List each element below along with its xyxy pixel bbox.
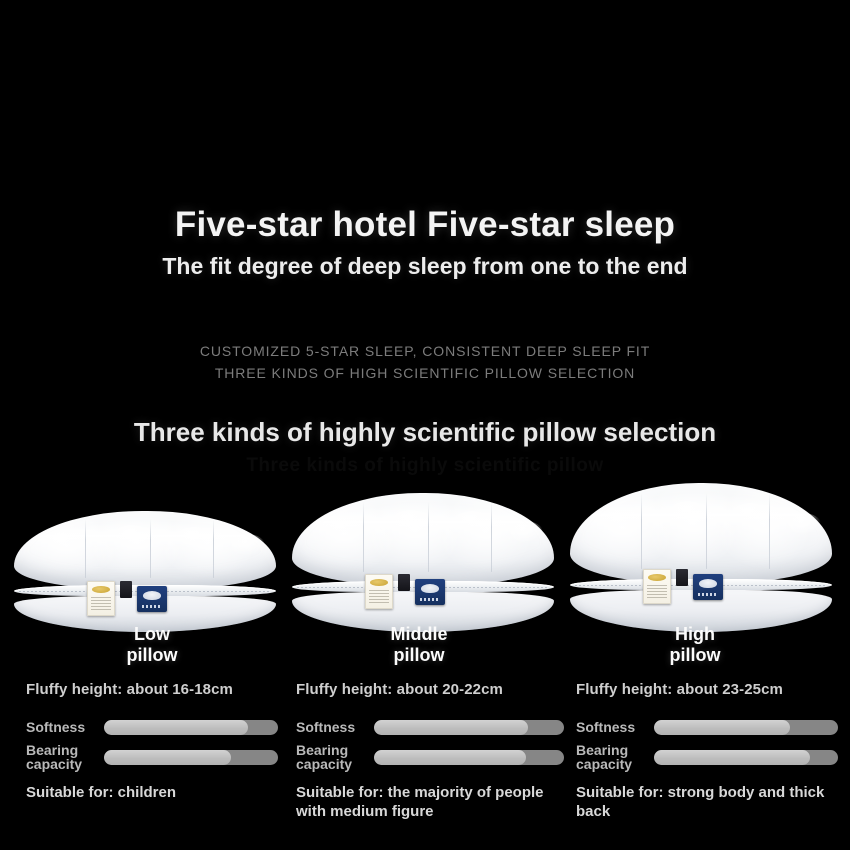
pillow-hang-tags bbox=[643, 569, 723, 604]
meter-row-bearing: Bearing capacity bbox=[296, 742, 564, 772]
meter-label-softness: Softness bbox=[576, 720, 654, 735]
meter-track-bearing bbox=[104, 750, 278, 765]
spec-title-line1: High bbox=[576, 624, 814, 645]
puff-highlight bbox=[601, 509, 637, 531]
quilt-seam-icon bbox=[428, 502, 429, 572]
meter-label-bearing-line2: capacity bbox=[576, 757, 654, 772]
pillow-graphic bbox=[14, 511, 276, 632]
pillow-top-loft bbox=[570, 483, 832, 583]
puff-highlight bbox=[229, 534, 265, 556]
puff-highlight bbox=[176, 527, 212, 549]
quilt-seam-icon bbox=[641, 493, 642, 569]
meter-label-softness: Softness bbox=[26, 720, 104, 735]
pillow-image-row bbox=[0, 492, 850, 632]
meter-track-bearing bbox=[654, 750, 838, 765]
navy-brand-tag-icon bbox=[137, 586, 167, 612]
page-title: Five-star hotel Five-star sleep bbox=[0, 205, 850, 245]
pillow-image-middle bbox=[292, 493, 554, 632]
meter-fill-bearing bbox=[104, 750, 231, 765]
dark-tag-icon bbox=[398, 574, 410, 591]
puff-highlight bbox=[114, 525, 150, 547]
suitable-for-high: Suitable for: strong body and thick back bbox=[576, 784, 838, 822]
suitable-for-low: Suitable for: children bbox=[26, 784, 278, 803]
meter-label-bearing: Bearing capacity bbox=[576, 743, 654, 772]
suitable-for-middle: Suitable for: the majority of people wit… bbox=[296, 784, 564, 822]
puff-highlight bbox=[323, 517, 359, 539]
spec-title-line1: Middle bbox=[296, 624, 542, 645]
meter-fill-bearing bbox=[374, 750, 526, 765]
dark-tag-icon bbox=[676, 569, 688, 586]
spec-title-line2: pillow bbox=[36, 645, 268, 666]
pillow-graphic bbox=[292, 493, 554, 632]
section-heading-ghost-text: Three kinds of highly scientific pillow bbox=[0, 455, 850, 477]
dark-tag-icon bbox=[120, 581, 132, 598]
fluffy-height-low: Fluffy height: about 16-18cm bbox=[26, 681, 278, 698]
spec-column-middle: Middle pillow Fluffy height: about 20-22… bbox=[296, 624, 564, 822]
meter-group-high: Softness Bearing capacity bbox=[576, 712, 838, 772]
pillow-top-loft bbox=[14, 511, 276, 589]
meter-group-middle: Softness Bearing capacity bbox=[296, 712, 564, 772]
meter-row-bearing: Bearing capacity bbox=[26, 742, 278, 772]
pillow-image-low bbox=[14, 511, 276, 632]
fluffy-height-high: Fluffy height: about 23-25cm bbox=[576, 681, 838, 698]
meter-fill-softness bbox=[374, 720, 528, 735]
quilt-seam-icon bbox=[150, 519, 151, 578]
caps-tagline-line-1: CUSTOMIZED 5-STAR SLEEP, CONSISTENT DEEP… bbox=[0, 340, 850, 362]
quilt-seam-icon bbox=[85, 519, 86, 578]
caps-tagline-block: CUSTOMIZED 5-STAR SLEEP, CONSISTENT DEEP… bbox=[0, 340, 850, 385]
meter-row-softness: Softness bbox=[576, 712, 838, 742]
meter-row-softness: Softness bbox=[26, 712, 278, 742]
meter-track-bearing bbox=[374, 750, 564, 765]
meter-track-softness bbox=[104, 720, 278, 735]
meter-track-softness bbox=[374, 720, 564, 735]
quilt-seam-icon bbox=[706, 493, 707, 569]
spec-title-low: Low pillow bbox=[36, 624, 268, 665]
navy-brand-tag-icon bbox=[415, 579, 445, 605]
spec-title-high: High pillow bbox=[576, 624, 814, 665]
navy-brand-tag-icon bbox=[693, 574, 723, 600]
paper-tag-icon bbox=[643, 569, 671, 604]
paper-tag-icon bbox=[365, 574, 393, 609]
meter-label-softness: Softness bbox=[296, 720, 374, 735]
quilt-seam-icon bbox=[363, 502, 364, 572]
meter-label-bearing-line2: capacity bbox=[296, 757, 374, 772]
meter-label-bearing-line1: Bearing bbox=[576, 743, 654, 758]
puff-highlight bbox=[785, 513, 821, 535]
pillow-image-high bbox=[570, 483, 832, 632]
pillow-spec-row: Low pillow Fluffy height: about 16-18cm … bbox=[0, 624, 850, 824]
meter-label-bearing: Bearing capacity bbox=[26, 743, 104, 772]
page-subtitle: The fit degree of deep sleep from one to… bbox=[0, 253, 850, 281]
pillow-hang-tags bbox=[365, 574, 445, 609]
puff-highlight bbox=[732, 503, 768, 525]
quilt-seam-icon bbox=[769, 493, 770, 569]
fluffy-height-middle: Fluffy height: about 20-22cm bbox=[296, 681, 564, 698]
caps-tagline-line-2: THREE KINDS OF HIGH SCIENTIFIC PILLOW SE… bbox=[0, 362, 850, 384]
infographic-canvas: Five-star hotel Five-star sleep The fit … bbox=[0, 0, 850, 850]
pillow-top-loft bbox=[292, 493, 554, 585]
meter-label-bearing-line2: capacity bbox=[26, 757, 104, 772]
meter-track-softness bbox=[654, 720, 838, 735]
meter-label-bearing-line1: Bearing bbox=[26, 743, 104, 758]
spec-title-middle: Middle pillow bbox=[296, 624, 542, 665]
puff-highlight bbox=[45, 531, 81, 553]
puff-highlight bbox=[392, 510, 428, 532]
meter-group-low: Softness Bearing capacity bbox=[26, 712, 278, 772]
meter-fill-bearing bbox=[654, 750, 810, 765]
spec-title-line2: pillow bbox=[296, 645, 542, 666]
spec-column-high: High pillow Fluffy height: about 23-25cm… bbox=[576, 624, 838, 822]
puff-highlight bbox=[670, 501, 706, 523]
section-heading: Three kinds of highly scientific pillow … bbox=[0, 417, 850, 448]
spec-title-line1: Low bbox=[36, 624, 268, 645]
meter-label-bearing-line1: Bearing bbox=[296, 743, 374, 758]
quilt-seam-icon bbox=[491, 502, 492, 572]
spec-title-line2: pillow bbox=[576, 645, 814, 666]
paper-tag-icon bbox=[87, 581, 115, 616]
meter-label-bearing: Bearing capacity bbox=[296, 743, 374, 772]
puff-highlight bbox=[507, 521, 543, 543]
headline-block: Five-star hotel Five-star sleep The fit … bbox=[0, 205, 850, 281]
quilt-seam-icon bbox=[213, 519, 214, 578]
meter-fill-softness bbox=[654, 720, 790, 735]
meter-row-bearing: Bearing capacity bbox=[576, 742, 838, 772]
pillow-hang-tags bbox=[87, 581, 167, 616]
meter-fill-softness bbox=[104, 720, 248, 735]
puff-highlight bbox=[454, 511, 490, 533]
meter-row-softness: Softness bbox=[296, 712, 564, 742]
spec-column-low: Low pillow Fluffy height: about 16-18cm … bbox=[26, 624, 278, 803]
pillow-graphic bbox=[570, 483, 832, 632]
